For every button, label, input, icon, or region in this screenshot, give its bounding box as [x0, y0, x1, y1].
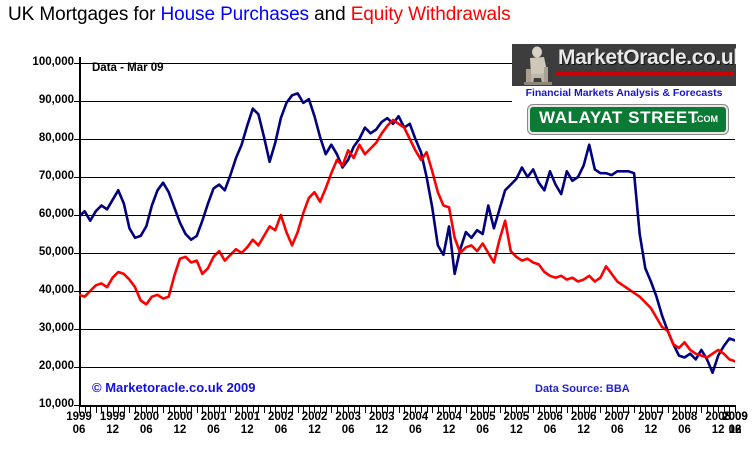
x-axis-tick: [309, 407, 310, 413]
title-segment-conjunction: and: [309, 4, 351, 25]
x-axis-tick: [371, 407, 372, 413]
x-axis-tick: [567, 407, 568, 413]
x-axis-tick: [264, 407, 265, 413]
x-axis-tick: [146, 407, 147, 413]
y-axis: 100,00090,00080,00070,00060,00050,00040,…: [0, 0, 74, 455]
x-axis-tick: [382, 407, 383, 413]
x-axis-tick: [96, 407, 97, 413]
x-axis-tick: [107, 407, 108, 413]
marketoracle-logo-text: MarketOracle.co.uk: [558, 46, 736, 70]
x-axis-tick: [713, 407, 714, 413]
x-axis-tick: [141, 407, 142, 413]
gridline: [79, 177, 735, 178]
x-axis-tick: [617, 407, 618, 413]
copyright-note: © Marketoracle.co.uk 2009: [92, 380, 256, 395]
x-axis-tick: [612, 407, 613, 413]
x-axis-tick: [550, 407, 551, 413]
x-axis-tick: [101, 407, 102, 413]
x-axis-tick: [314, 407, 315, 413]
x-axis-tick: [662, 407, 663, 413]
x-axis-tick: [281, 407, 282, 413]
x-axis-tick: [628, 407, 629, 413]
x-axis-tick: [230, 407, 231, 413]
y-axis-label: 70,000: [4, 171, 74, 183]
x-axis-tick: [348, 407, 349, 413]
data-source-note: Data Source: BBA: [535, 383, 630, 395]
x-axis-tick: [488, 407, 489, 413]
x-axis-tick: [500, 407, 501, 413]
x-axis-label-month: 12: [715, 424, 755, 437]
x-axis-tick: [544, 407, 545, 413]
x-axis-tick: [657, 407, 658, 413]
thinker-figure-icon: [520, 45, 556, 85]
x-axis-tick: [124, 407, 125, 413]
x-axis-tick: [320, 407, 321, 413]
x-axis-tick: [410, 407, 411, 413]
x-axis-tick: [460, 407, 461, 413]
page-title: UK Mortgages for House Purchases and Equ…: [8, 4, 510, 26]
y-axis-label: 50,000: [4, 247, 74, 259]
x-axis-tick: [533, 407, 534, 413]
x-axis-tick: [376, 407, 377, 413]
x-axis-tick: [90, 407, 91, 413]
x-axis-tick: [511, 407, 512, 413]
x-axis-tick: [505, 407, 506, 413]
walayat-street-logo-tld: .COM: [695, 114, 719, 124]
x-axis-tick: [634, 407, 635, 413]
x-axis-tick: [584, 407, 585, 413]
x-axis-tick: [275, 407, 276, 413]
x-axis-tick: [270, 407, 271, 413]
x-axis-tick: [337, 407, 338, 413]
gridline: [79, 139, 735, 140]
x-axis-tick: [247, 407, 248, 413]
x-axis-tick: [242, 407, 243, 413]
x-axis-tick: [174, 407, 175, 413]
x-axis-tick: [600, 407, 601, 413]
x-axis-tick: [135, 407, 136, 413]
x-axis-tick: [113, 407, 114, 413]
walayat-street-logo-text: WALAYAT STREET: [539, 108, 699, 128]
x-axis-tick: [729, 407, 730, 413]
x-axis-tick: [432, 407, 433, 413]
x-axis-tick: [343, 407, 344, 413]
x-axis-tick: [298, 407, 299, 413]
x-axis-tick: [589, 407, 590, 413]
x-axis: 1999061999122000062000122001062001122002…: [79, 407, 736, 455]
y-axis-label: 60,000: [4, 209, 74, 221]
x-axis-tick: [438, 407, 439, 413]
x-axis-tick: [718, 407, 719, 413]
x-axis-tick: [707, 407, 708, 413]
y-axis-label: 40,000: [4, 285, 74, 297]
x-axis-tick: [326, 407, 327, 413]
x-axis-tick: [701, 407, 702, 413]
x-axis-tick: [331, 407, 332, 413]
x-axis-tick: [219, 407, 220, 413]
x-axis-tick: [236, 407, 237, 413]
x-axis-tick: [258, 407, 259, 413]
x-axis-tick: [539, 407, 540, 413]
x-axis-tick: [208, 407, 209, 413]
y-axis-label: 100,000: [4, 57, 74, 69]
x-axis-tick: [516, 407, 517, 413]
y-axis-label: 80,000: [4, 133, 74, 145]
x-axis-tick: [214, 407, 215, 413]
x-axis-tick: [387, 407, 388, 413]
x-axis-tick: [668, 407, 669, 413]
x-axis-tick: [477, 407, 478, 413]
x-axis-tick: [561, 407, 562, 413]
x-axis-tick: [163, 407, 164, 413]
x-axis-tick: [556, 407, 557, 413]
marketoracle-logo[interactable]: MarketOracle.co.uk: [512, 44, 736, 86]
x-axis-tick: [522, 407, 523, 413]
x-axis-tick: [157, 407, 158, 413]
x-axis-tick: [292, 407, 293, 413]
x-axis-tick: [421, 407, 422, 413]
x-axis-tick: [679, 407, 680, 413]
gridline: [79, 291, 735, 292]
x-axis-tick: [225, 407, 226, 413]
x-axis-tick: [79, 407, 80, 413]
x-axis-tick: [365, 407, 366, 413]
x-axis-tick: [152, 407, 153, 413]
x-axis-tick: [354, 407, 355, 413]
marketoracle-tagline: Financial Markets Analysis & Forecasts: [512, 86, 736, 102]
x-axis-tick: [690, 407, 691, 413]
x-axis-tick: [253, 407, 254, 413]
title-segment-equity-withdrawals: Equity Withdrawals: [351, 4, 511, 25]
x-axis-tick: [202, 407, 203, 413]
x-axis-tick: [483, 407, 484, 413]
x-axis-tick: [169, 407, 170, 413]
y-axis-label: 30,000: [4, 323, 74, 335]
x-axis-tick: [572, 407, 573, 413]
x-axis-tick: [606, 407, 607, 413]
x-axis-tick: [494, 407, 495, 413]
x-axis-tick: [466, 407, 467, 413]
x-axis-tick: [85, 407, 86, 413]
x-axis-label: 200912: [715, 411, 755, 437]
x-axis-tick: [359, 407, 360, 413]
x-axis-tick: [443, 407, 444, 413]
y-axis-label: 20,000: [4, 361, 74, 373]
x-axis-tick: [415, 407, 416, 413]
y-axis-label: 10,000: [4, 399, 74, 411]
x-axis-tick: [696, 407, 697, 413]
x-axis-tick: [623, 407, 624, 413]
gridline: [79, 215, 735, 216]
walayat-street-logo[interactable]: WALAYAT STREET .COM: [528, 105, 728, 134]
x-axis-tick: [651, 407, 652, 413]
series-line-equity-withdrawals: [79, 120, 735, 361]
title-segment-house-purchases: House Purchases: [160, 4, 308, 25]
x-axis-tick: [685, 407, 686, 413]
data-date-note: Data - Mar 09: [92, 62, 164, 74]
x-axis-tick: [404, 407, 405, 413]
x-axis-tick: [645, 407, 646, 413]
x-axis-tick: [595, 407, 596, 413]
x-axis-tick: [673, 407, 674, 413]
x-axis-tick: [449, 407, 450, 413]
x-axis-tick: [724, 407, 725, 413]
x-axis-tick: [528, 407, 529, 413]
gridline: [79, 329, 735, 330]
x-axis-tick: [303, 407, 304, 413]
x-axis-tick: [393, 407, 394, 413]
x-axis-tick: [471, 407, 472, 413]
x-axis-tick: [118, 407, 119, 413]
gridline: [79, 253, 735, 254]
x-axis-tick: [640, 407, 641, 413]
x-axis-tick: [286, 407, 287, 413]
x-axis-tick: [399, 407, 400, 413]
x-axis-tick: [455, 407, 456, 413]
x-axis-tick: [129, 407, 130, 413]
gridline: [79, 367, 735, 368]
x-axis-tick: [191, 407, 192, 413]
x-axis-tick: [197, 407, 198, 413]
marketoracle-logo-rule: [556, 72, 734, 75]
x-axis-tick: [735, 407, 736, 413]
x-axis-tick: [180, 407, 181, 413]
y-axis-label: 90,000: [4, 95, 74, 107]
x-axis-tick: [578, 407, 579, 413]
x-axis-tick: [427, 407, 428, 413]
x-axis-tick: [186, 407, 187, 413]
